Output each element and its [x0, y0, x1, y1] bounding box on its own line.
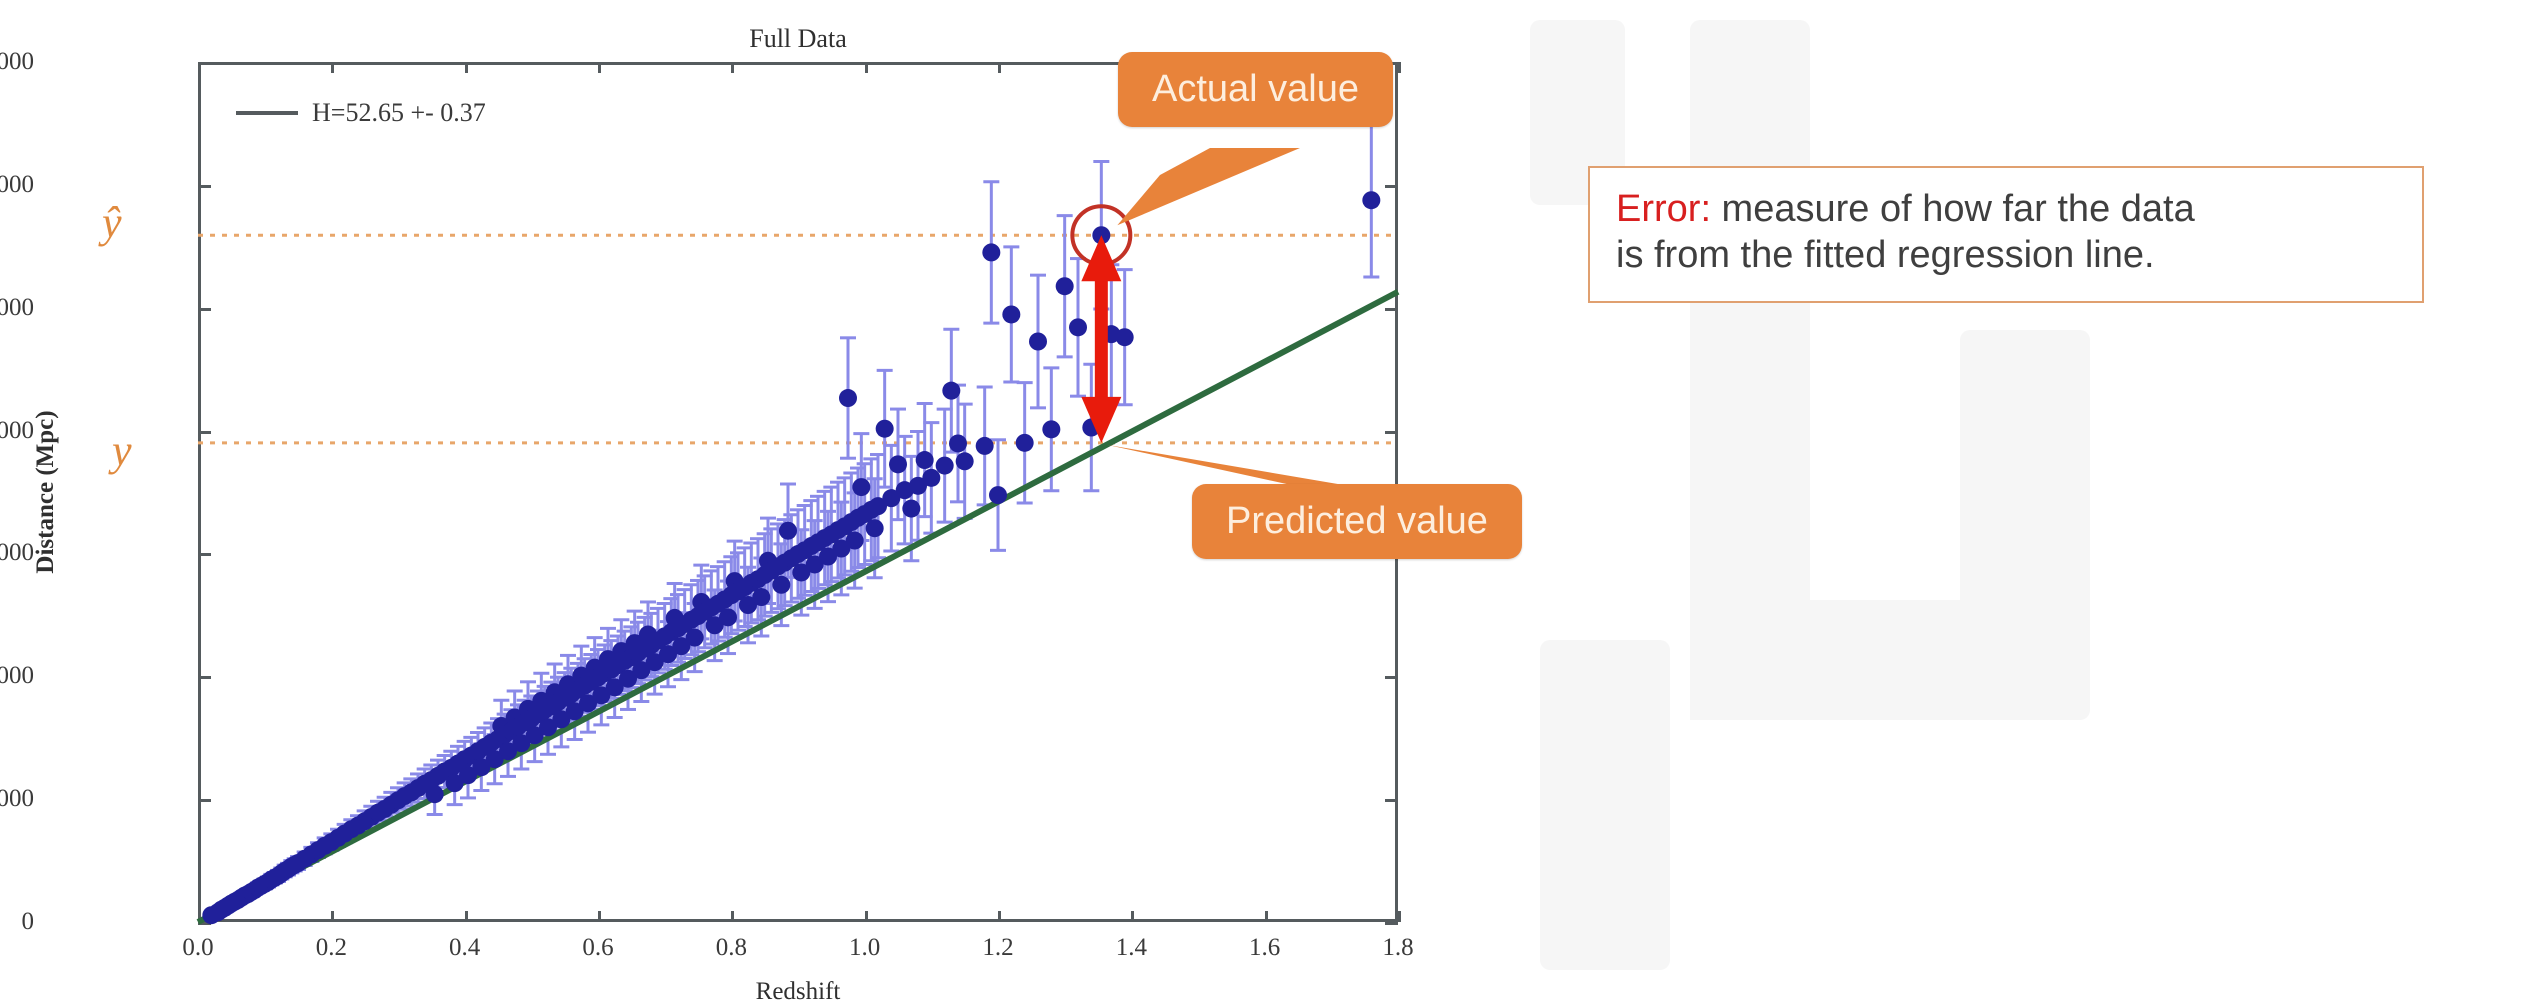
y-hat-label: ŷ: [102, 201, 122, 245]
x-tick-label: 0.0: [182, 934, 213, 962]
x-tick-label: 0.8: [716, 934, 747, 962]
y-axis-label: Distance (Mpc): [32, 410, 60, 573]
x-tick-label: 1.8: [1382, 934, 1413, 962]
error-text-rest-1: measure of how far the data: [1711, 188, 2195, 230]
x-tick-label: 1.6: [1249, 934, 1280, 962]
y-tick-label: 14000: [0, 48, 34, 76]
y-tick-label: 12000: [0, 171, 34, 199]
y-tick-label: 0: [22, 908, 35, 936]
y-tick-right: [1385, 922, 1398, 925]
y-tick-label: 8000: [0, 417, 34, 445]
x-tick-label: 0.4: [449, 934, 480, 962]
error-text-line-1: Error: measure of how far the data: [1616, 186, 2396, 232]
error-definition-box: Error: measure of how far the data is fr…: [1588, 166, 2424, 303]
legend: H=52.65 +- 0.37: [236, 98, 486, 128]
background-watermark-shape: [1690, 20, 1810, 640]
y-tick-label: 10000: [0, 294, 34, 322]
y-label: y: [112, 429, 132, 473]
background-watermark-shape: [1540, 640, 1670, 970]
callout-predicted-value[interactable]: Predicted value: [1192, 484, 1522, 559]
chart-title: Full Data: [198, 24, 1398, 54]
x-tick: [1398, 911, 1401, 922]
y-tick-label: 6000: [0, 539, 34, 567]
error-keyword: Error:: [1616, 188, 1711, 230]
x-tick-label: 1.2: [982, 934, 1013, 962]
x-tick-label: 1.4: [1116, 934, 1147, 962]
error-text-line-2: is from the fitted regression line.: [1616, 232, 2396, 278]
legend-label: H=52.65 +- 0.37: [312, 98, 486, 128]
y-tick-label: 4000: [0, 662, 34, 690]
y-tick-label: 2000: [0, 785, 34, 813]
legend-line-swatch: [236, 111, 298, 115]
regression-line: [198, 292, 1398, 922]
callout-actual-value[interactable]: Actual value: [1118, 52, 1393, 127]
x-tick-label: 0.6: [582, 934, 613, 962]
x-tick-label: 1.0: [849, 934, 880, 962]
x-tick-top: [1398, 62, 1401, 73]
error-arrow-head-up: [1081, 235, 1121, 281]
background-watermark-shape: [1960, 330, 2090, 720]
x-tick-label: 0.2: [316, 934, 347, 962]
